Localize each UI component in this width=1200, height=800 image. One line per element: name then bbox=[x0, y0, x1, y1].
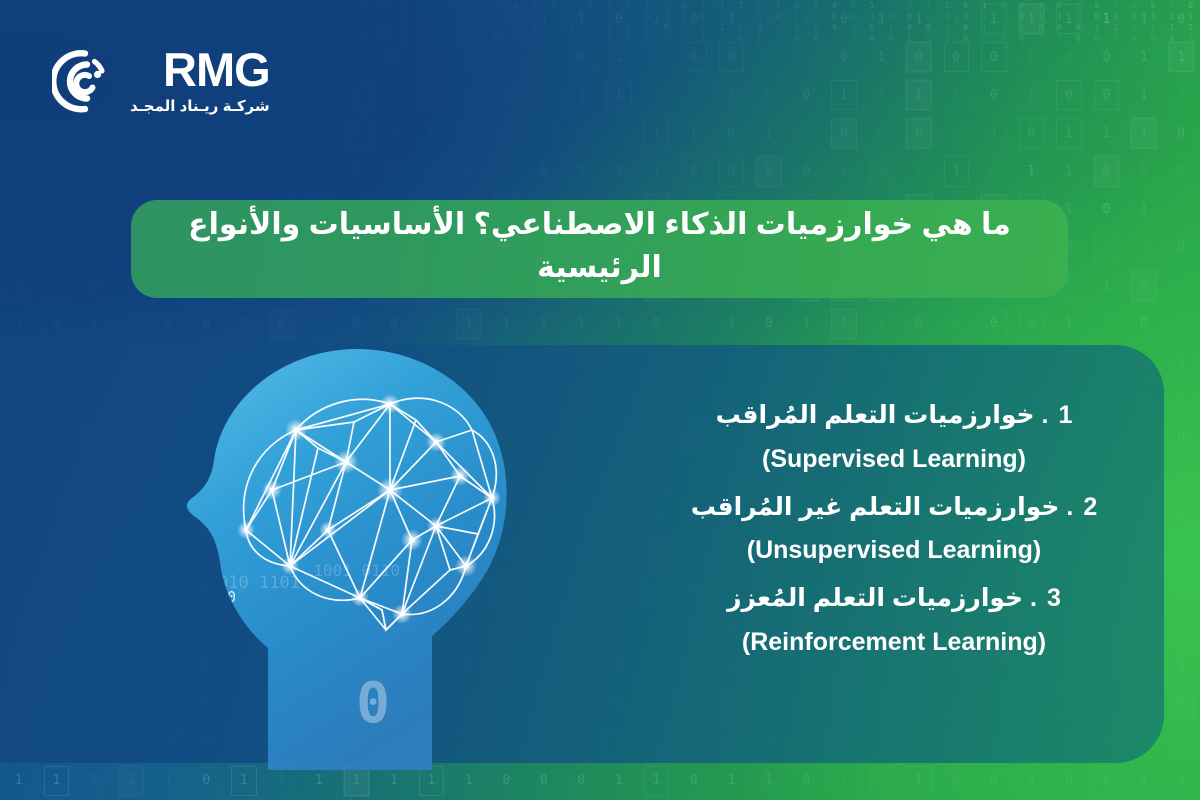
ai-head-brain-illustration: 0 0110 010 0 0110 010 00 100 0110 00 011… bbox=[150, 330, 550, 770]
svg-text:0110: 0110 bbox=[150, 673, 208, 743]
infographic-canvas: 0111111110101010110000111101111111001000… bbox=[0, 0, 1200, 800]
brand-name: RMG bbox=[163, 48, 270, 93]
list-item: 3. خوارزميات التعلم المُعزز (Reinforceme… bbox=[684, 578, 1104, 664]
algorithm-arabic-text-3: خوارزميات التعلم المُعزز bbox=[727, 584, 1023, 612]
algorithm-english-label-3: (Reinforcement Learning) bbox=[684, 620, 1104, 664]
algorithm-arabic-label-1: 1. خوارزميات التعلم المُراقب bbox=[684, 395, 1104, 437]
algorithm-dot-3: . bbox=[1030, 584, 1037, 612]
svg-text:0 0110 010: 0 0110 010 bbox=[150, 611, 216, 633]
rmg-spiral-logo-icon bbox=[52, 49, 116, 113]
list-item: 1. خوارزميات التعلم المُراقب (Supervised… bbox=[684, 395, 1104, 481]
algorithm-list: 1. خوارزميات التعلم المُراقب (Supervised… bbox=[684, 395, 1104, 670]
brand-logo[interactable]: RMG شركـة ريـناد المجـد bbox=[52, 48, 270, 115]
algorithm-dot-1: . bbox=[1041, 401, 1048, 429]
title-banner: ما هي خوارزميات الذكاء الاصطناعي؟ الأساس… bbox=[131, 200, 1068, 298]
algorithm-arabic-text-1: خوارزميات التعلم المُراقب bbox=[716, 401, 1035, 429]
svg-text:00 100 0110 00: 00 100 0110 00 bbox=[150, 635, 212, 657]
svg-text:101 00 110 010: 101 00 110 010 bbox=[150, 655, 202, 675]
algorithm-arabic-label-2: 2. خوارزميات التعلم غير المُراقب bbox=[684, 487, 1104, 529]
svg-text:0: 0 bbox=[356, 671, 390, 736]
list-item: 2. خوارزميات التعلم غير المُراقب (Unsupe… bbox=[684, 487, 1104, 573]
algorithm-english-label-2: (Unsupervised Learning) bbox=[684, 528, 1104, 572]
svg-text:0110 1001: 0110 1001 bbox=[313, 561, 400, 580]
algorithm-number-2: 2 bbox=[1083, 493, 1097, 521]
svg-text:0 0110 010: 0 0110 010 bbox=[150, 588, 236, 606]
algorithm-english-label-1: (Supervised Learning) bbox=[684, 437, 1104, 481]
svg-text:110 101 000 110: 110 101 000 110 bbox=[150, 741, 210, 766]
brand-subtitle: شركـة ريـناد المجـد bbox=[130, 97, 270, 115]
algorithm-dot-2: . bbox=[1066, 493, 1073, 521]
algorithm-number-3: 3 bbox=[1047, 584, 1061, 612]
page-title: ما هي خوارزميات الذكاء الاصطناعي؟ الأساس… bbox=[171, 204, 1028, 289]
algorithm-arabic-label-3: 3. خوارزميات التعلم المُعزز bbox=[684, 578, 1104, 620]
svg-text:1101 0010 11: 1101 0010 11 bbox=[177, 573, 300, 593]
algorithm-arabic-text-2: خوارزميات التعلم غير المُراقب bbox=[691, 493, 1060, 521]
algorithm-number-1: 1 bbox=[1058, 401, 1072, 429]
